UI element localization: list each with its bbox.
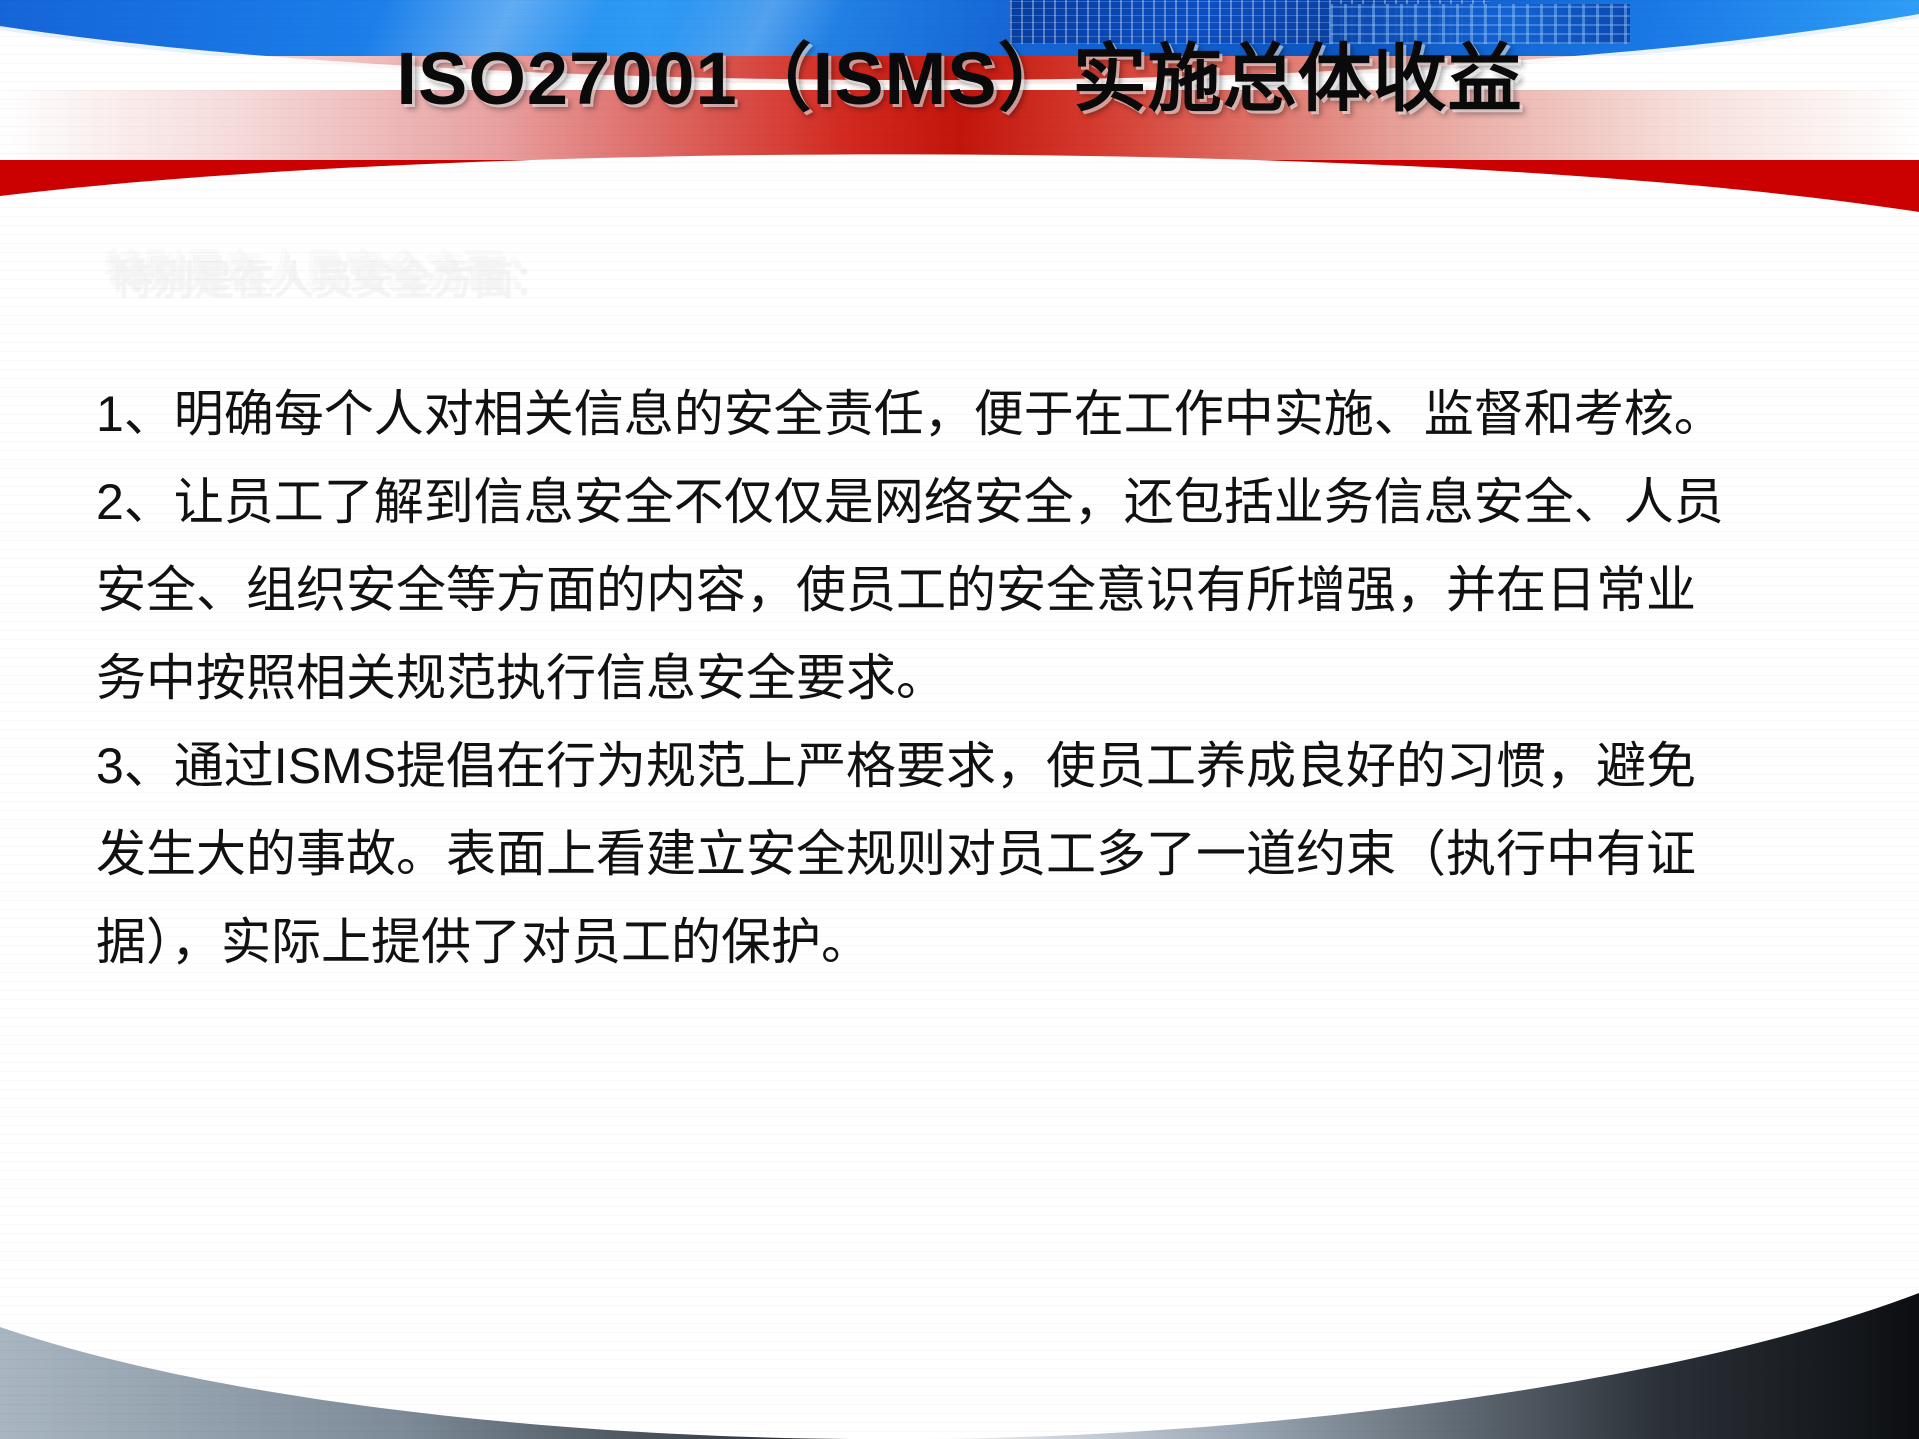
body-line: 务中按照相关规范执行信息安全要求。 <box>0 634 1919 722</box>
footer-curve-right <box>880 1293 1919 1439</box>
body-line: 3、通过ISMS提倡在行为规范上严格要求，使员工养成良好的习惯，避免 <box>0 722 1919 810</box>
body-line: 2、让员工了解到信息安全不仅仅是网络安全，还包括业务信息安全、人员 <box>0 458 1919 546</box>
header-red-bar-arc <box>0 150 1919 215</box>
body-line: 据），实际上提供了对员工的保护。 <box>0 898 1919 986</box>
presentation-slide: ISO27001（ISMS）实施总体收益 特别是在人员安全方面： 特别是在人员安… <box>0 0 1919 1439</box>
footer-curve-left <box>0 1327 900 1439</box>
slide-body: 1、明确每个人对相关信息的安全责任，便于在工作中实施、监督和考核。 2、让员工了… <box>0 370 1919 986</box>
body-line: 安全、组织安全等方面的内容，使员工的安全意识有所增强，并在日常业 <box>0 546 1919 634</box>
faded-subtitle-line-c: 特别是在人员安全方面： <box>114 256 554 306</box>
page-title: ISO27001（ISMS）实施总体收益 <box>0 42 1919 116</box>
body-line: 1、明确每个人对相关信息的安全责任，便于在工作中实施、监督和考核。 <box>0 370 1919 458</box>
faded-subtitle-group: 特别是在人员安全方面： 特别是在人员安全方面： 特别是在人员安全方面： <box>104 244 804 300</box>
slide-header: ISO27001（ISMS）实施总体收益 <box>0 0 1919 215</box>
body-line: 发生大的事故。表面上看建立安全规则对员工多了一道约束（执行中有证 <box>0 810 1919 898</box>
footer-decorative-curves <box>0 1259 1919 1439</box>
